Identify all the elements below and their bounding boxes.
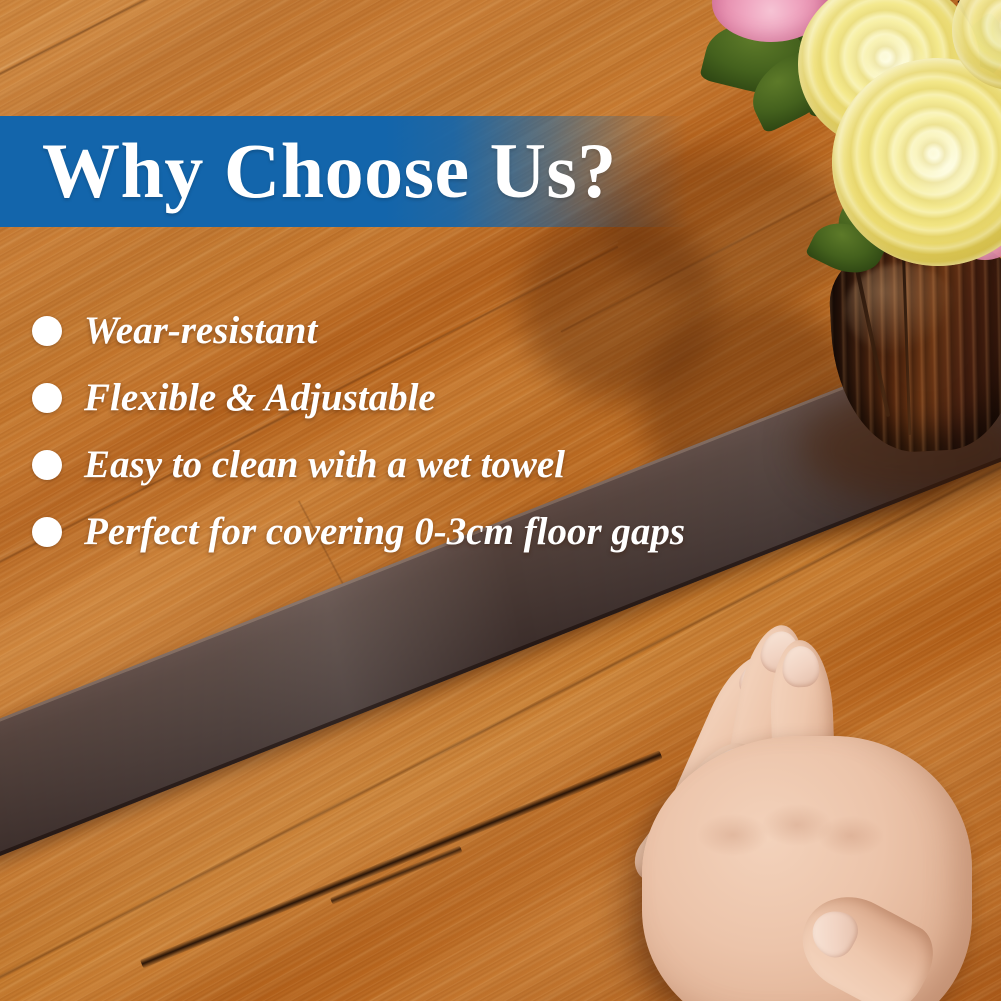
feature-label: Perfect for covering 0-3cm floor gaps xyxy=(84,510,685,554)
feature-label: Wear-resistant xyxy=(84,309,317,353)
bullet-dot-icon xyxy=(32,316,62,346)
list-item: Easy to clean with a wet towel xyxy=(32,431,792,498)
fingernail xyxy=(782,645,820,687)
list-item: Wear-resistant xyxy=(32,297,792,364)
list-item: Flexible & Adjustable xyxy=(32,364,792,431)
hand-pressing-strip xyxy=(600,618,1001,1001)
page-title: Why Choose Us? xyxy=(42,117,617,225)
feature-label: Flexible & Adjustable xyxy=(84,376,436,420)
feature-label: Easy to clean with a wet towel xyxy=(84,443,565,487)
feature-list: Wear-resistant Flexible & Adjustable Eas… xyxy=(32,297,792,565)
product-feature-image: Why Choose Us? Wear-resistant Flexible &… xyxy=(0,0,1001,1001)
bullet-dot-icon xyxy=(32,450,62,480)
knuckle-shading xyxy=(818,816,884,856)
fingernail xyxy=(804,903,864,964)
flower-center xyxy=(896,116,994,212)
bullet-dot-icon xyxy=(32,517,62,547)
list-item: Perfect for covering 0-3cm floor gaps xyxy=(32,498,792,565)
flower-center xyxy=(988,4,1001,57)
knuckle-shading xyxy=(698,814,768,856)
bullet-dot-icon xyxy=(32,383,62,413)
